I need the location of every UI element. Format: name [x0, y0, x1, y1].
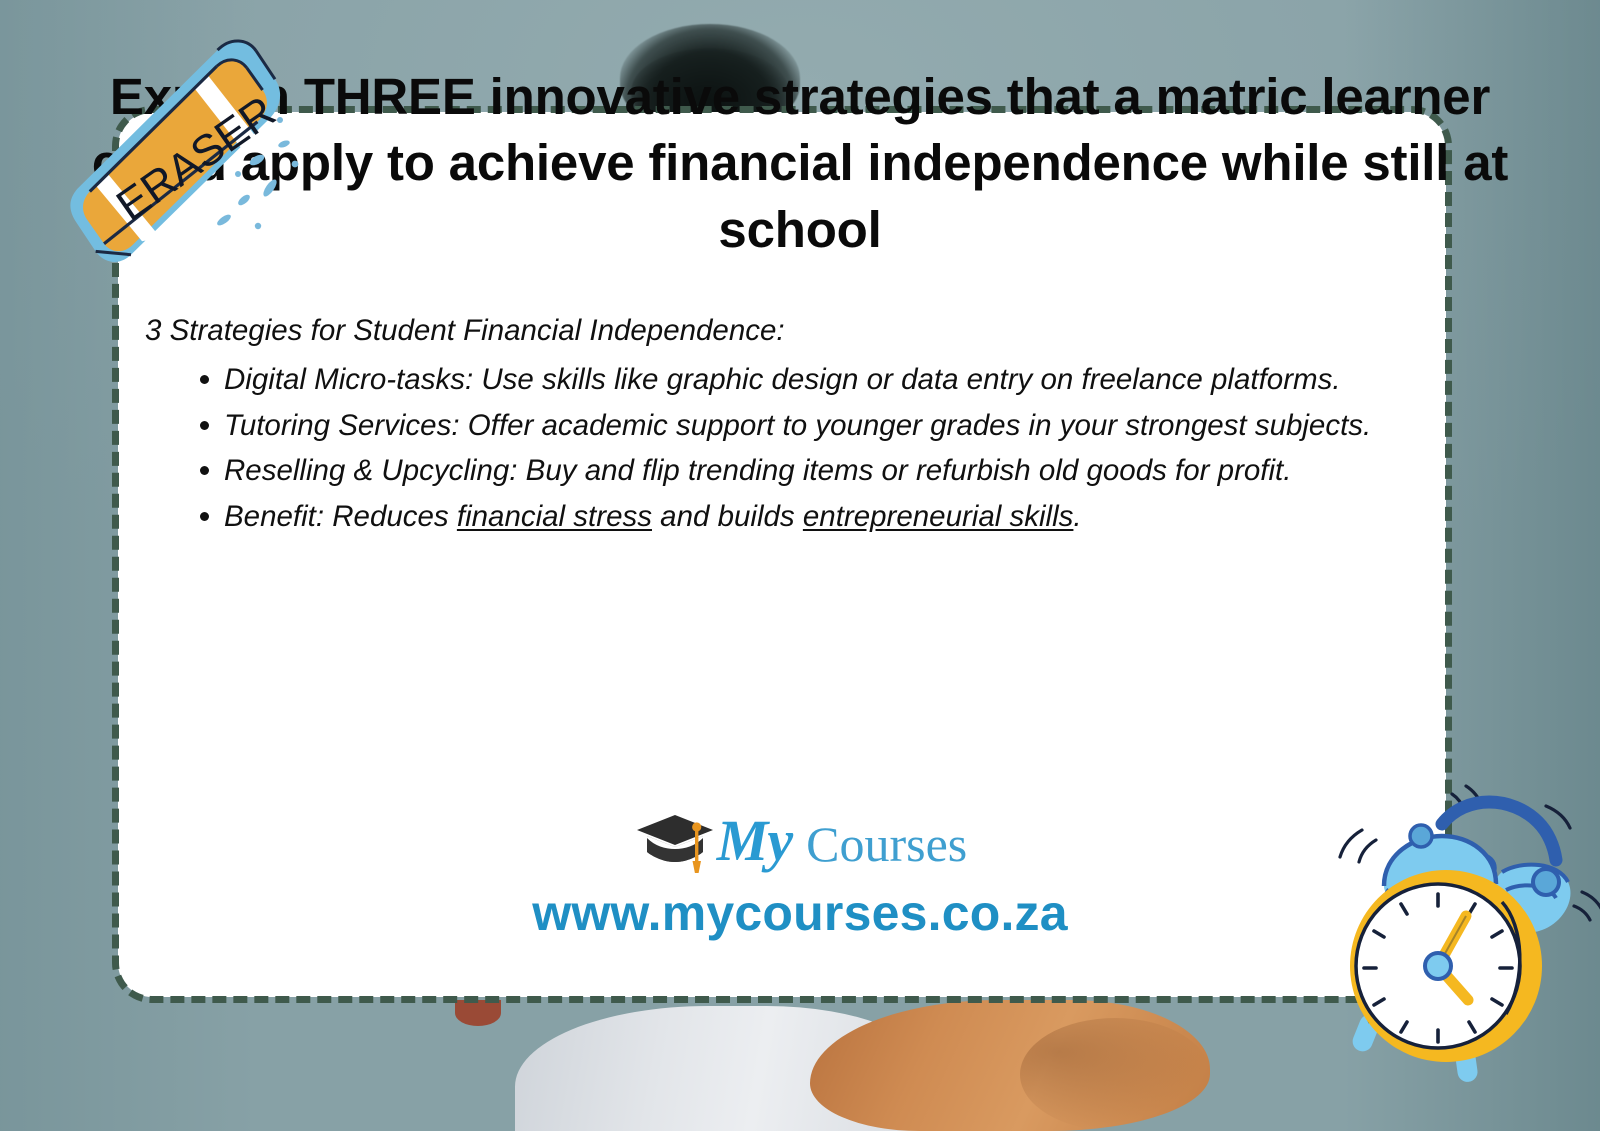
website-url: www.mycourses.co.za: [532, 884, 1068, 942]
bullet-text: Tutoring Services: Offer academic suppor…: [224, 409, 1371, 442]
answer-bullet-list: Digital Micro-tasks: Use skills like gra…: [145, 358, 1530, 540]
eraser-illustration: ERASER: [52, 38, 332, 288]
benefit-tail: .: [1073, 500, 1081, 533]
list-item: Reselling & Upcycling: Buy and flip tren…: [200, 449, 1530, 494]
answer-intro: 3 Strategies for Student Financial Indep…: [145, 309, 1530, 354]
logo-text-courses: Courses: [806, 819, 967, 869]
graduation-cap-icon: [633, 812, 719, 874]
poster-canvas: Explain THREE innovative strategies that…: [0, 0, 1600, 1131]
mycourses-logo: My Courses: [633, 812, 967, 874]
benefit-underline-entrepreneurial-skills: entrepreneurial skills: [803, 500, 1074, 533]
answer-block: 3 Strategies for Student Financial Indep…: [70, 309, 1530, 540]
list-item: Benefit: Reduces financial stress and bu…: [200, 495, 1530, 540]
bullet-text: Digital Micro-tasks: Use skills like gra…: [224, 363, 1341, 396]
list-item: Digital Micro-tasks: Use skills like gra…: [200, 358, 1530, 403]
logo-text-my: My: [717, 812, 792, 870]
benefit-mid: and builds: [652, 500, 803, 533]
list-item: Tutoring Services: Offer academic suppor…: [200, 404, 1530, 449]
alarm-clock-illustration: [1306, 778, 1600, 1098]
benefit-lead: Benefit: Reduces: [224, 500, 457, 533]
bullet-text: Reselling & Upcycling: Buy and flip tren…: [224, 454, 1291, 487]
benefit-underline-financial-stress: financial stress: [457, 500, 652, 533]
